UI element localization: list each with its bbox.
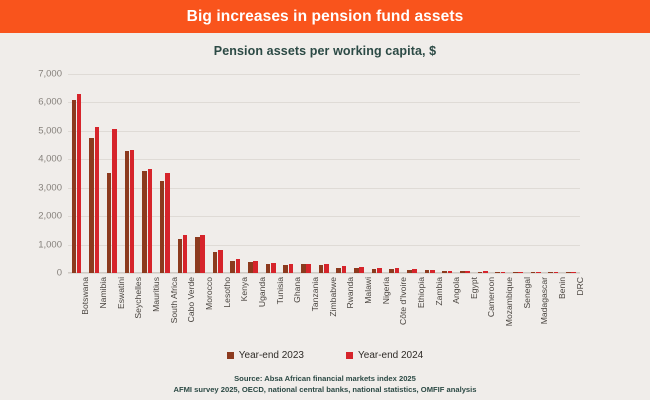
x-axis-tick-label: Angola (451, 277, 461, 304)
bar (306, 264, 311, 273)
bar (301, 264, 306, 273)
x-axis-tick-label: Botswana (80, 277, 90, 315)
bar (359, 267, 364, 273)
gridline (68, 273, 580, 274)
x-axis-tick-label: Egypt (469, 277, 479, 299)
bar (536, 272, 541, 273)
x-axis-tick-label: Benin (557, 277, 567, 299)
bar-group (371, 74, 383, 273)
bar (72, 100, 77, 273)
x-axis-tick-label: Tanzania (310, 277, 320, 311)
bar-group (459, 74, 471, 273)
x-axis-tick-label: Côte d'Ivoire (398, 277, 408, 325)
bar-group (248, 74, 260, 273)
bar (183, 235, 188, 273)
bar (518, 272, 523, 273)
x-axis-tick-label: Kenya (239, 277, 249, 301)
y-axis-tick-label: 0 (2, 268, 62, 279)
bar (253, 261, 258, 273)
bar (548, 272, 553, 273)
bar (95, 127, 100, 273)
bar-group (442, 74, 454, 273)
bar (200, 235, 205, 273)
bar-group (424, 74, 436, 273)
x-axis-tick-label: Ethiopia (416, 277, 426, 308)
bar (513, 272, 518, 273)
legend-item[interactable]: Year-end 2023 (227, 350, 304, 361)
bar-group (71, 74, 83, 273)
bar (112, 129, 117, 273)
bar (377, 268, 382, 273)
bar (483, 271, 488, 273)
bar (248, 262, 253, 273)
x-axis-tick-label: Rwanda (345, 277, 355, 309)
bar (465, 271, 470, 273)
bar (372, 269, 377, 273)
y-axis-tick-label: 1,000 (2, 239, 62, 250)
x-axis-tick-label: Mozambique (504, 277, 514, 326)
y-axis-tick-label: 3,000 (2, 182, 62, 193)
x-axis-labels: BotswanaNamibiaEswatiniSeychellesMauriti… (68, 277, 580, 343)
bar (77, 94, 82, 273)
bar-group (477, 74, 489, 273)
bar (412, 269, 417, 273)
bar (160, 181, 165, 273)
bar (213, 252, 218, 273)
chart-legend: Year-end 2023Year-end 2024 (0, 350, 650, 361)
bar (218, 250, 223, 273)
x-axis-tick-label: Zimbabwe (328, 277, 338, 317)
legend-swatch-icon (346, 352, 353, 359)
bar-group (212, 74, 224, 273)
bar (230, 261, 235, 273)
bar (142, 171, 147, 273)
bar (425, 270, 430, 273)
x-axis-tick-label: Malawi (363, 277, 373, 304)
bar (354, 268, 359, 273)
x-axis-tick-label: Zambia (434, 277, 444, 306)
bar (195, 237, 200, 273)
bar (389, 269, 394, 273)
bar-group (336, 74, 348, 273)
bar (430, 270, 435, 273)
x-axis-tick-label: Uganda (257, 277, 267, 307)
x-axis-tick-label: Lesotho (222, 277, 232, 308)
chart-figure: Big increases in pension fund assets Pen… (0, 0, 650, 400)
x-axis-tick-label: Nigeria (381, 277, 391, 304)
x-axis-tick-label: South Africa (169, 277, 179, 323)
x-axis-tick-label: Seychelles (133, 277, 143, 319)
legend-label: Year-end 2023 (239, 350, 304, 361)
bar (336, 268, 341, 273)
y-axis-tick-label: 4,000 (2, 154, 62, 165)
bar-group (565, 74, 577, 273)
bar-group (353, 74, 365, 273)
x-axis-tick-label: Ghana (292, 277, 302, 303)
bar (531, 272, 536, 273)
bar-group (177, 74, 189, 273)
bar (442, 271, 447, 273)
bar-group (389, 74, 401, 273)
bar (554, 272, 559, 273)
plot-wrapper: 01,0002,0003,0004,0005,0006,0007,000 Bot… (0, 0, 650, 400)
x-axis-tick-label: Cameroon (486, 277, 496, 317)
bar-group (406, 74, 418, 273)
x-axis-tick-label: Senegal (522, 277, 532, 309)
bar-group (159, 74, 171, 273)
bar (395, 268, 400, 273)
y-axis-tick-label: 7,000 (2, 69, 62, 80)
bar (271, 263, 276, 273)
bar (501, 272, 506, 273)
bar-group (124, 74, 136, 273)
bar (107, 173, 112, 273)
bar-group (301, 74, 313, 273)
bar (178, 239, 183, 273)
plot-area (68, 74, 580, 273)
bar (125, 151, 130, 273)
x-axis-tick-label: Madagascar (539, 277, 549, 324)
x-axis-tick-label: Cabo Verde (186, 277, 196, 322)
bar (289, 264, 294, 273)
bar-group (530, 74, 542, 273)
bar (495, 272, 500, 273)
bar (130, 150, 135, 273)
bar-group (265, 74, 277, 273)
bar-group (495, 74, 507, 273)
bar (148, 169, 153, 273)
source-line-1: Source: Absa African financial markets i… (0, 374, 650, 385)
bar (407, 270, 412, 273)
bar-group (283, 74, 295, 273)
source-line-2: AFMI survey 2025, OECD, national central… (0, 385, 650, 396)
bar (324, 264, 329, 273)
x-axis-tick-label: Morocco (204, 277, 214, 310)
bar (283, 265, 288, 273)
y-axis-tick-label: 2,000 (2, 211, 62, 222)
y-axis-tick-label: 5,000 (2, 125, 62, 136)
bar (448, 271, 453, 273)
bar (266, 264, 271, 273)
bar-group (512, 74, 524, 273)
bar-group (548, 74, 560, 273)
x-axis-tick-label: DRC (575, 277, 585, 296)
legend-item[interactable]: Year-end 2024 (346, 350, 423, 361)
bar-group (106, 74, 118, 273)
legend-swatch-icon (227, 352, 234, 359)
bar-series-container (68, 74, 580, 273)
x-axis-tick-label: Namibia (98, 277, 108, 309)
bar (460, 271, 465, 273)
y-axis-tick-label: 6,000 (2, 97, 62, 108)
bar (236, 259, 241, 273)
bar-group (142, 74, 154, 273)
bar (89, 138, 94, 273)
bar (478, 272, 483, 273)
bar-group (230, 74, 242, 273)
bar (319, 265, 324, 273)
bar-group (318, 74, 330, 273)
x-axis-tick-label: Eswatini (116, 277, 126, 309)
legend-label: Year-end 2024 (358, 350, 423, 361)
x-axis-tick-label: Mauritius (151, 277, 161, 312)
bar (342, 266, 347, 273)
bar (566, 272, 571, 273)
bar (165, 173, 170, 273)
bar (571, 272, 576, 273)
bar-group (195, 74, 207, 273)
source-note: Source: Absa African financial markets i… (0, 374, 650, 395)
bar-group (89, 74, 101, 273)
x-axis-tick-label: Tunisia (275, 277, 285, 304)
